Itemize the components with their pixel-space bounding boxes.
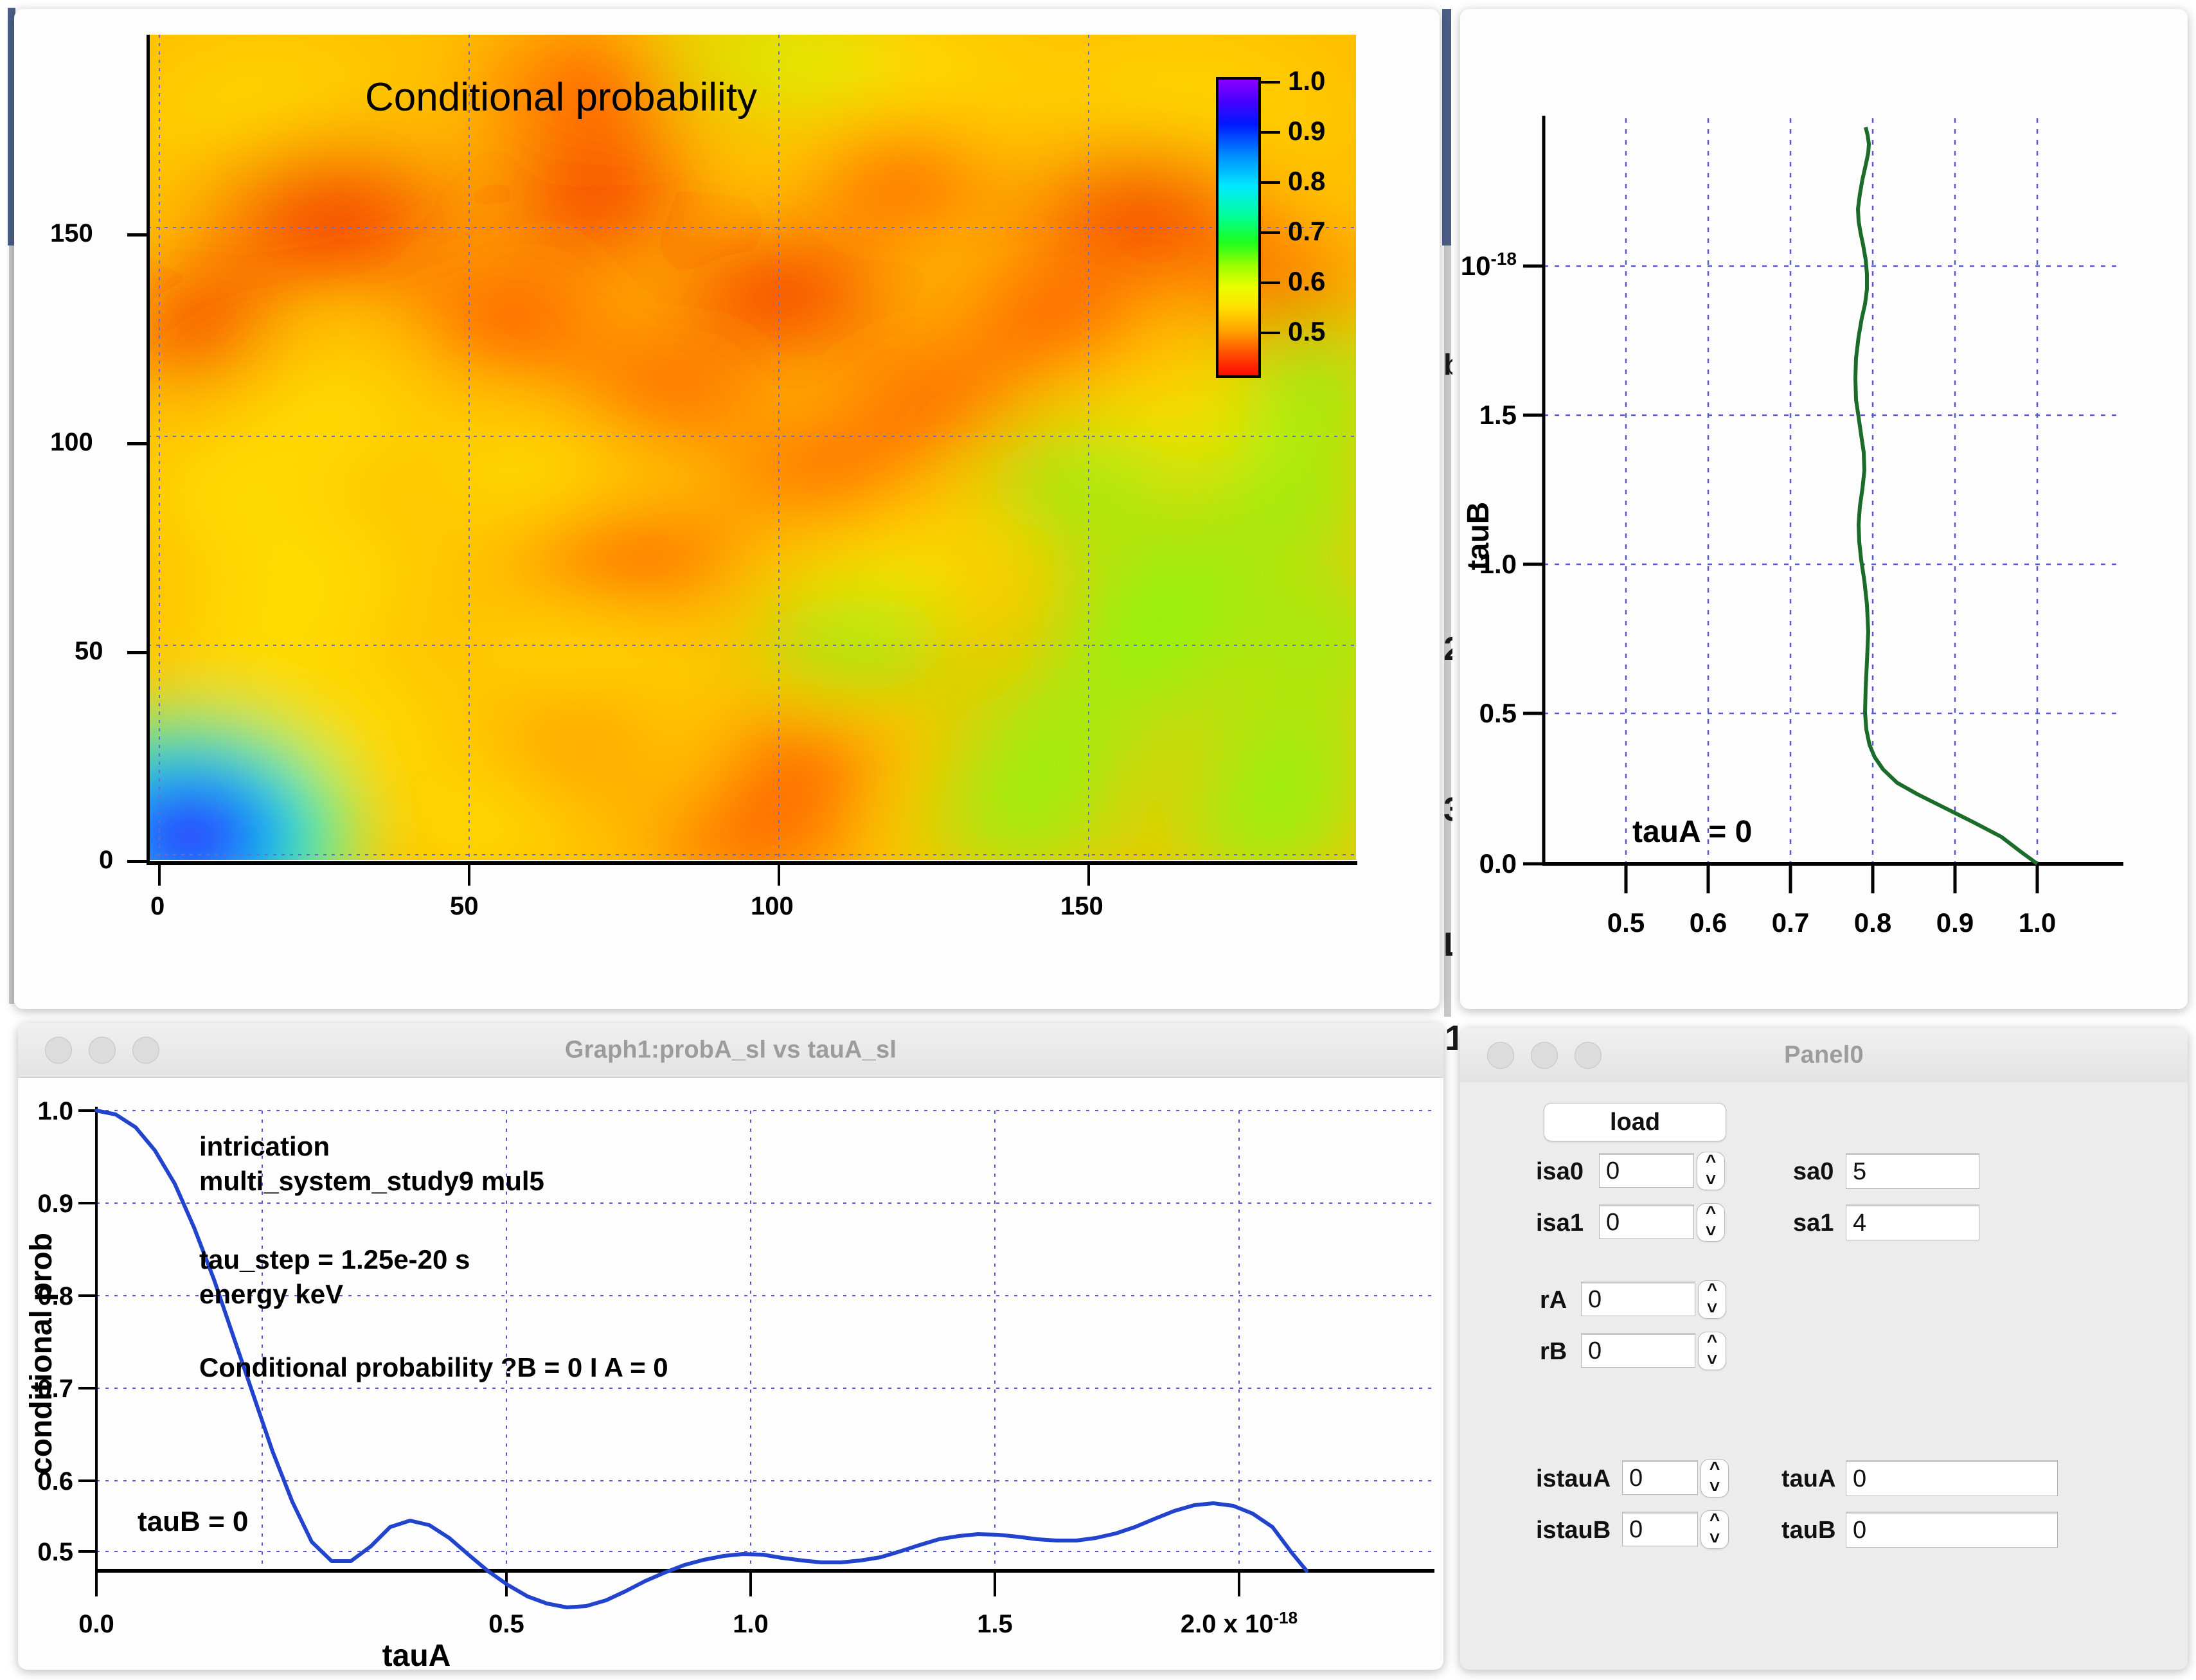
svg-text:0.5: 0.5 (1479, 698, 1517, 728)
svg-text:0.5: 0.5 (1607, 907, 1645, 938)
tauB-label: tauB (1781, 1517, 1835, 1544)
chevron-down-icon[interactable]: ˅ (1709, 1480, 1720, 1494)
svg-text:2.0 x 10-18: 2.0 x 10-18 (1460, 249, 1517, 281)
graph1-annotation: tauB = 0 (138, 1506, 248, 1537)
colorbar-label-1.0: 1.0 (1288, 66, 1325, 96)
heatmap-ytick-label-50: 50 (75, 637, 103, 666)
heatmap-ytick-50 (127, 651, 148, 654)
chevron-down-icon[interactable]: ˅ (1707, 1353, 1717, 1367)
heatmap-ytick-label-0: 0 (99, 846, 113, 875)
heatmap-gridlines (148, 35, 1356, 860)
rA-stepper[interactable]: ^ ˅ (1698, 1280, 1726, 1319)
background-window-sliver-right (1442, 9, 1451, 246)
heatmap-xtick-150 (1087, 864, 1090, 886)
chevron-down-icon[interactable]: ˅ (1707, 1301, 1717, 1316)
heatmap-ytick-label-150: 150 (50, 219, 93, 248)
svg-text:intrication: intrication (199, 1131, 330, 1161)
heatmap-title: Conditional probability (365, 75, 757, 120)
istauB-stepper[interactable]: ^ ˅ (1701, 1510, 1729, 1549)
svg-text:0.5: 0.5 (37, 1538, 73, 1566)
svg-text:0.6: 0.6 (1690, 907, 1727, 938)
heatmap-xtick-label-0: 0 (150, 892, 165, 921)
taub-axis-title: tauB (1461, 502, 1495, 571)
heatmap-ytick-150 (127, 233, 148, 237)
background-window-text-fragment-4: L (1443, 925, 1452, 964)
sa0-input[interactable]: 5 (1846, 1153, 1979, 1189)
taub-annotation: tauA = 0 (1632, 815, 1752, 849)
isa0-stepper[interactable]: ^ ˅ (1697, 1152, 1725, 1190)
svg-text:0.7: 0.7 (1772, 907, 1809, 938)
svg-text:1.5: 1.5 (977, 1610, 1013, 1638)
colorbar-label-0.5: 0.5 (1288, 316, 1325, 347)
svg-text:0.8: 0.8 (1854, 907, 1891, 938)
sa1-label: sa1 (1793, 1210, 1834, 1237)
graph1-plot-area: tauB = 0 intrication multi_system_study9… (18, 1077, 1443, 1670)
chevron-up-icon[interactable]: ^ (1706, 1154, 1716, 1168)
svg-text:1.0: 1.0 (733, 1610, 769, 1638)
istauB-input[interactable]: 0 (1622, 1512, 1698, 1546)
chevron-up-icon[interactable]: ^ (1706, 1206, 1716, 1220)
svg-text:1.5: 1.5 (1479, 400, 1517, 430)
chevron-up-icon[interactable]: ^ (1707, 1334, 1717, 1348)
chevron-up-icon[interactable]: ^ (1707, 1283, 1717, 1297)
colorbar-label-0.6: 0.6 (1288, 266, 1325, 297)
graph1-title: Graph1:probA_sl vs tauA_sl (18, 1037, 1443, 1064)
heatmap-xtick-label-150: 150 (1060, 892, 1103, 921)
colorbar-tick-1.0 (1260, 81, 1280, 84)
svg-text:1.0: 1.0 (2019, 907, 2056, 938)
istauA-stepper[interactable]: ^ ˅ (1701, 1459, 1729, 1497)
heatmap-xtick-50 (468, 864, 470, 886)
sa1-input[interactable]: 4 (1846, 1204, 1979, 1240)
svg-text:Conditional probability ?B = 0: Conditional probability ?B = 0 I A = 0 (199, 1352, 668, 1382)
background-window-text-fragment-1: b (1443, 347, 1452, 386)
rB-stepper[interactable]: ^ ˅ (1698, 1332, 1726, 1370)
graph1-xaxis-title: tauA (382, 1639, 451, 1670)
svg-text:energy keV: energy keV (199, 1279, 343, 1309)
heatmap-plot-area: Conditional probability 0 50 100 150 0 5… (69, 19, 1429, 999)
colorbar-tick-0.7 (1260, 231, 1280, 234)
graph1-notes: intrication multi_system_study9 mul5 tau… (199, 1131, 668, 1382)
svg-text:0.9: 0.9 (37, 1190, 73, 1218)
svg-text:multi_system_study9 mul5: multi_system_study9 mul5 (199, 1166, 544, 1196)
istauB-label: istauB (1536, 1517, 1611, 1544)
heatmap-ytick-100 (127, 442, 148, 445)
rA-input[interactable]: 0 (1581, 1282, 1695, 1316)
istauA-input[interactable]: 0 (1622, 1460, 1698, 1495)
rA-label: rA (1540, 1287, 1567, 1314)
tauA-label: tauA (1781, 1465, 1835, 1493)
colorbar-label-0.8: 0.8 (1288, 166, 1325, 197)
colorbar-label-0.9: 0.9 (1288, 116, 1325, 147)
tauB-input[interactable]: 0 (1846, 1512, 2058, 1548)
graph1-window[interactable]: Graph1:probA_sl vs tauA_sl (18, 1023, 1443, 1670)
taub-window[interactable]: tauA = 0 0.5 0.6 0.7 0.8 0.9 1.0 0.0 0.5… (1460, 9, 2188, 1009)
chevron-up-icon[interactable]: ^ (1709, 1513, 1720, 1527)
svg-text:0.0: 0.0 (78, 1610, 114, 1638)
taub-chart: tauA = 0 0.5 0.6 0.7 0.8 0.9 1.0 0.0 0.5… (1460, 9, 2188, 1009)
panel0-body: load isa0 0 ^ ˅ isa1 0 ^ ˅ sa0 5 sa1 4 r… (1460, 1082, 2188, 1670)
background-window-text-fragment-3: 3 (1443, 791, 1452, 829)
heatmap-ytick-0 (127, 860, 148, 863)
svg-text:0.9: 0.9 (1936, 907, 1974, 938)
colorbar-tick-0.6 (1260, 281, 1280, 284)
panel0-window[interactable]: Panel0 load isa0 0 ^ ˅ isa1 0 ^ ˅ sa0 5 … (1460, 1028, 2188, 1670)
panel0-title: Panel0 (1460, 1042, 2188, 1069)
taub-plot-area: tauA = 0 0.5 0.6 0.7 0.8 0.9 1.0 0.0 0.5… (1460, 9, 2188, 1009)
chevron-down-icon[interactable]: ˅ (1706, 1173, 1716, 1187)
graph1-titlebar[interactable]: Graph1:probA_sl vs tauA_sl (18, 1023, 1443, 1078)
heatmap-xtick-label-50: 50 (450, 892, 479, 921)
isa1-input[interactable]: 0 (1599, 1204, 1694, 1239)
load-button[interactable]: load (1544, 1103, 1726, 1141)
svg-text:0.0: 0.0 (1479, 848, 1517, 879)
colorbar (1216, 77, 1261, 378)
isa1-stepper[interactable]: ^ ˅ (1697, 1203, 1725, 1242)
graph1-yaxis-title: conditional prob (24, 1233, 58, 1474)
svg-text:0.5: 0.5 (488, 1610, 524, 1638)
heatmap-y-axis (147, 35, 150, 864)
colorbar-tick-0.9 (1260, 131, 1280, 134)
sa0-label: sa0 (1793, 1158, 1834, 1186)
background-window-text-fragment-2: 2 (1443, 630, 1452, 668)
istauA-label: istauA (1536, 1465, 1611, 1493)
colorbar-tick-0.8 (1260, 181, 1280, 184)
chevron-down-icon[interactable]: ˅ (1706, 1224, 1716, 1238)
heatmap-xtick-100 (778, 864, 780, 886)
tauA-input[interactable]: 0 (1846, 1460, 2058, 1496)
svg-text:tau_step = 1.25e-20 s: tau_step = 1.25e-20 s (199, 1244, 470, 1274)
isa0-input[interactable]: 0 (1599, 1153, 1694, 1188)
isa0-label: isa0 (1536, 1158, 1584, 1186)
svg-text:2.0 x 10-18: 2.0 x 10-18 (1181, 1608, 1298, 1638)
panel0-titlebar[interactable]: Panel0 (1460, 1028, 2188, 1083)
chevron-down-icon[interactable]: ˅ (1709, 1532, 1720, 1546)
heatmap-xtick-0 (158, 864, 161, 886)
background-window-text-fragment-5: 1 (1445, 1017, 1458, 1062)
heatmap-ytick-label-100: 100 (50, 428, 93, 457)
rB-input[interactable]: 0 (1581, 1333, 1695, 1368)
rB-label: rB (1540, 1338, 1567, 1366)
isa1-label: isa1 (1536, 1210, 1584, 1237)
graph1-chart: tauB = 0 intrication multi_system_study9… (18, 1077, 1443, 1670)
heatmap-window[interactable]: Conditional probability 0 50 100 150 0 5… (14, 9, 1440, 1009)
colorbar-label-0.7: 0.7 (1288, 216, 1325, 247)
colorbar-gradient (1219, 80, 1258, 375)
background-window-edge-left (9, 246, 14, 1004)
heatmap-x-axis (147, 861, 1357, 865)
colorbar-tick-0.5 (1260, 332, 1280, 334)
chevron-up-icon[interactable]: ^ (1709, 1461, 1720, 1476)
svg-text:1.0: 1.0 (37, 1097, 73, 1125)
heatmap-xtick-label-100: 100 (751, 892, 794, 921)
heatmap-canvas (148, 35, 1356, 860)
